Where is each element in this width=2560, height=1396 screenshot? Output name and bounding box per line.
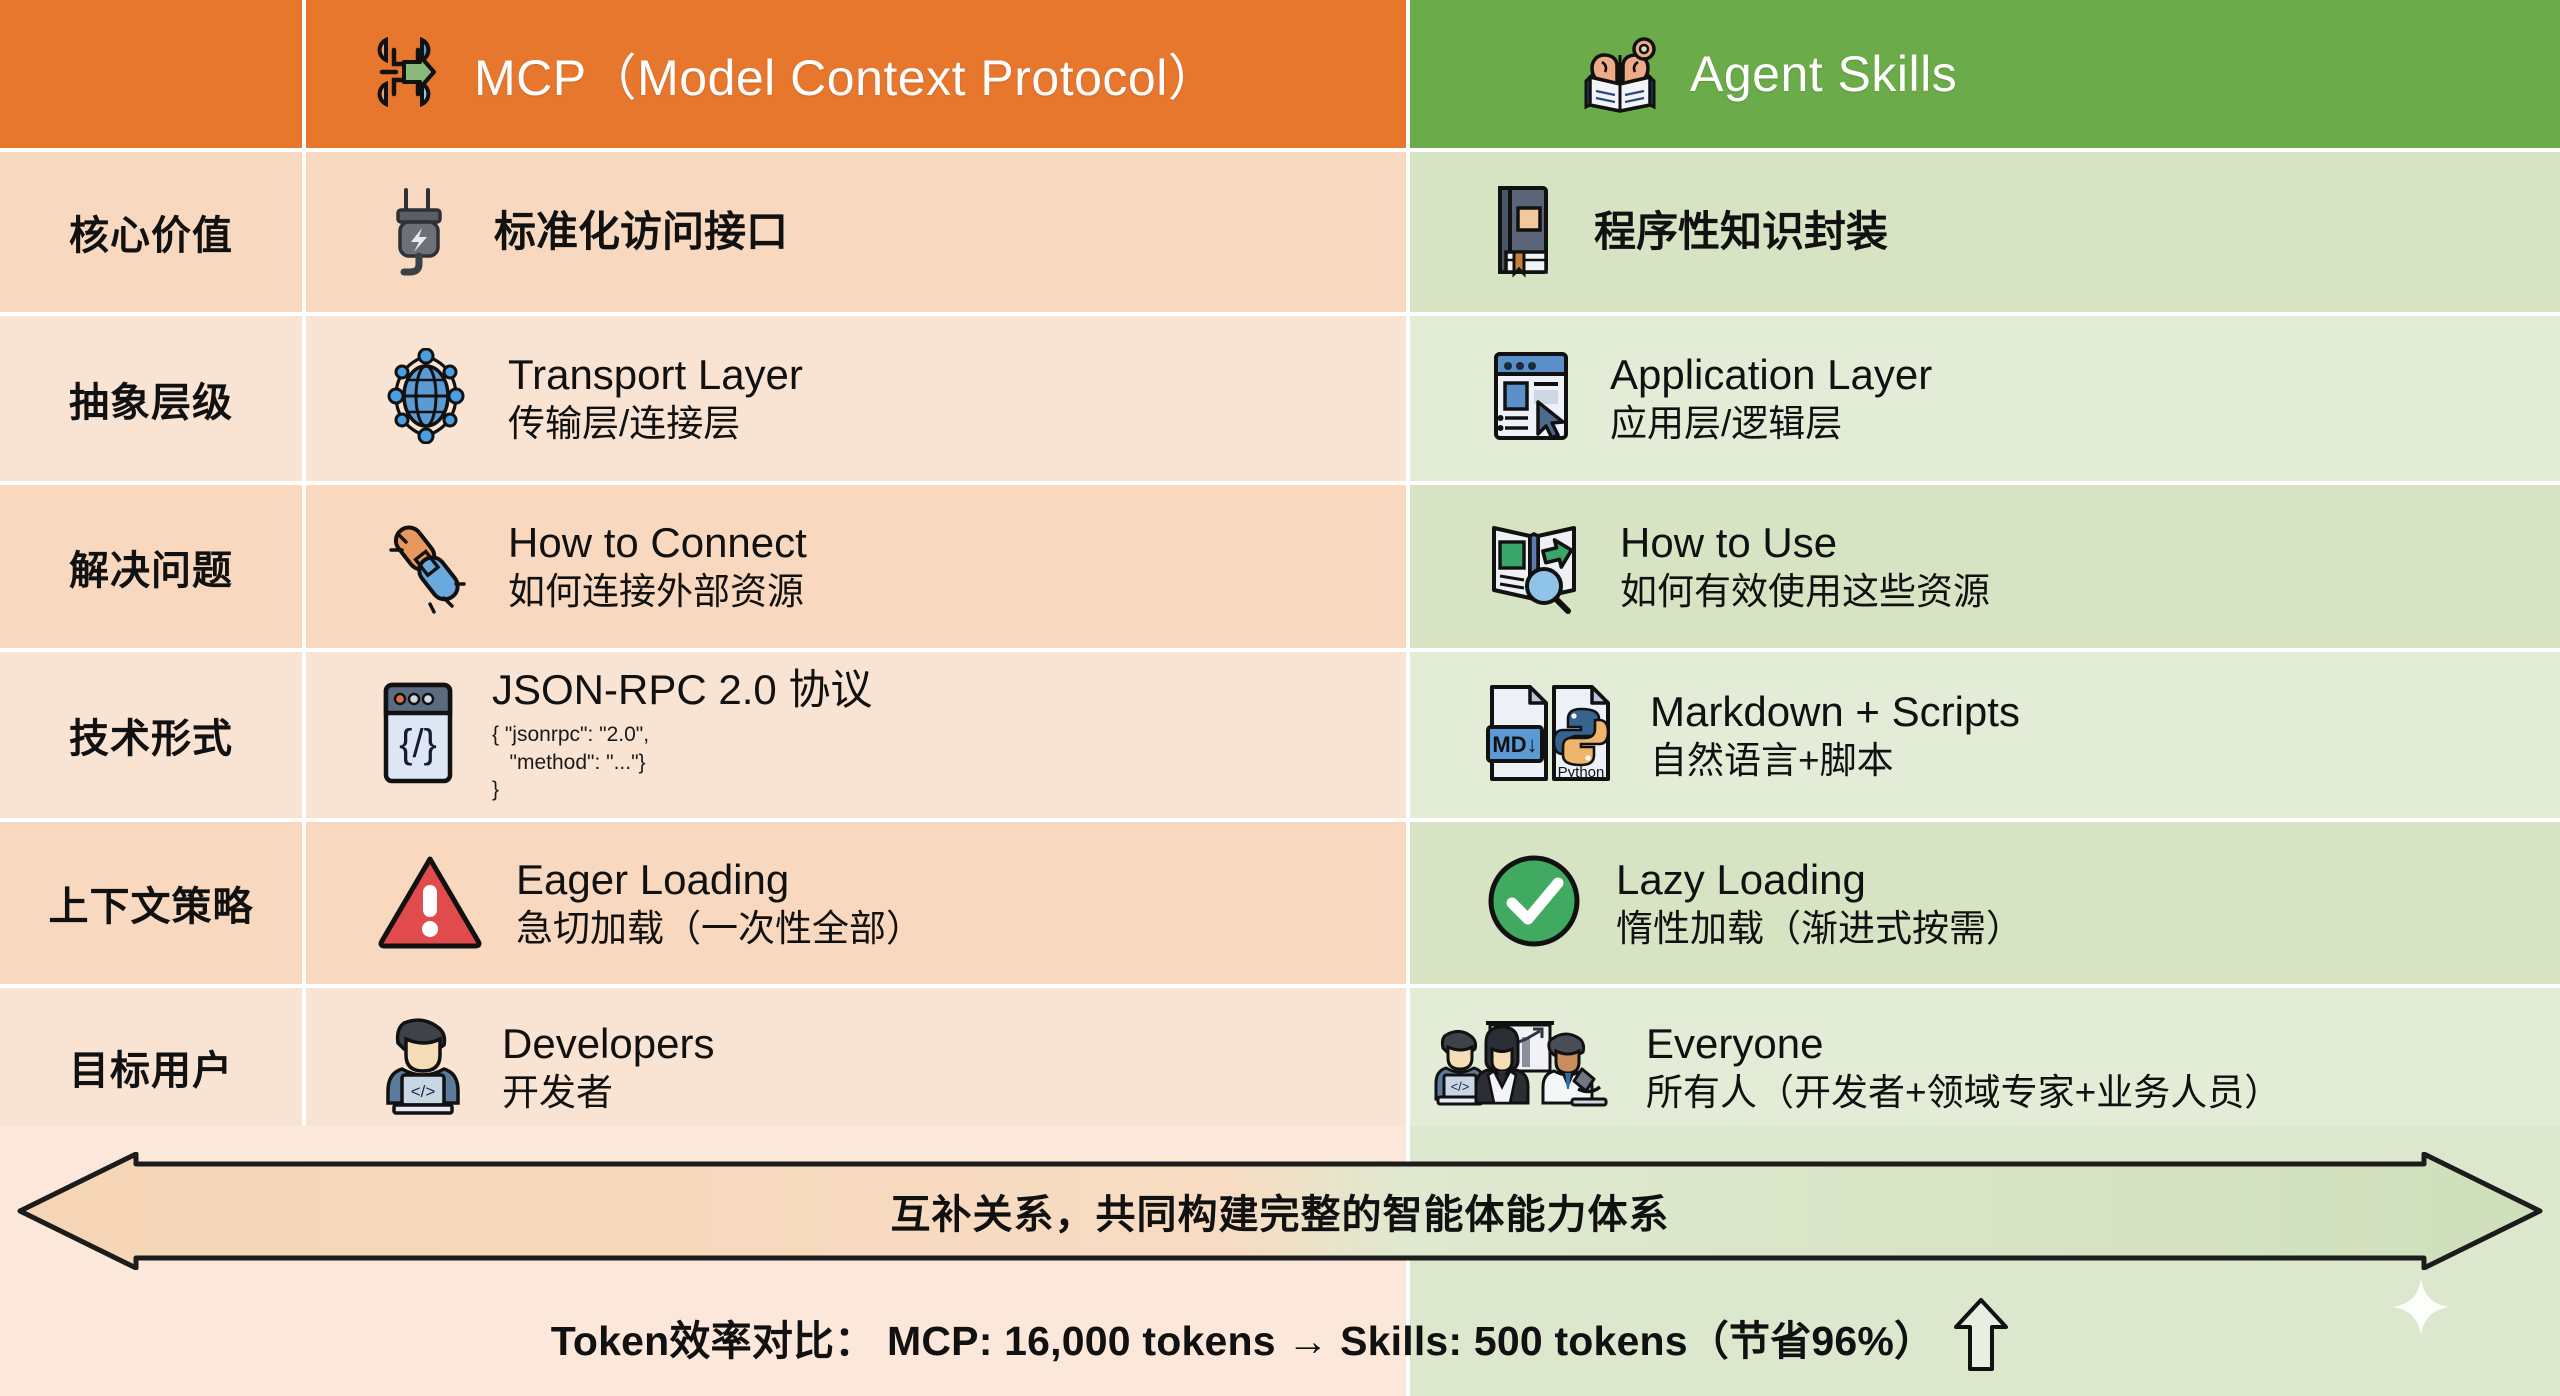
cell-mcp-technical-form: {/} JSON-RPC 2.0 协议 { "jsonrpc": "2.0", … [306, 652, 1406, 818]
warning-triangle-icon [378, 853, 482, 954]
mcp-abstraction-main: Transport Layer [508, 351, 803, 398]
row-label-text: 抽象层级 [69, 370, 233, 428]
cell-skills-core-value: 程序性知识封装 [1410, 152, 2560, 312]
row-label-text: 目标用户 [69, 1038, 233, 1096]
skills-technical-sub: 自然语言+脚本 [1650, 739, 2020, 783]
double-arrow-bar: 互补关系，共同构建完整的智能体能力体系 [16, 1152, 2544, 1270]
cell-mcp-core-value: 标准化访问接口 [306, 152, 1406, 312]
skills-abstraction-main: Application Layer [1610, 351, 1932, 398]
cell-mcp-problem-solved: How to Connect 如何连接外部资源 [306, 485, 1406, 648]
skills-title: Agent Skills [1690, 45, 1957, 103]
skills-context-sub: 惰性加载（渐进式按需） [1616, 907, 2023, 951]
green-check-circle-icon [1486, 853, 1582, 954]
token-efficiency-line: Token效率对比： MCP: 16,000 tokens → Skills: … [0, 1294, 2560, 1380]
skills-abstraction-sub: 应用层/逻辑层 [1610, 402, 1932, 446]
row-label-text: 核心价值 [69, 203, 233, 261]
skills-technical-main: Markdown + Scripts [1650, 688, 2020, 735]
mcp-title: MCP（Model Context Protocol） [474, 38, 1218, 110]
row-label-target-users: 目标用户 [0, 988, 302, 1146]
svg-text:Python: Python [1558, 764, 1605, 781]
mcp-core-value-main: 标准化访问接口 [494, 208, 788, 255]
token-efficiency-text: Token效率对比： MCP: 16,000 tokens → Skills: … [551, 1307, 1936, 1367]
cell-skills-abstraction-level: Application Layer 应用层/逻辑层 [1410, 316, 2560, 481]
mcp-context-sub: 急切加载（一次性全部） [516, 907, 923, 951]
markdown-python-files-icon: MD↓ Python [1486, 681, 1616, 790]
mcp-technical-main: JSON-RPC 2.0 协议 [492, 666, 872, 713]
app-window-cursor-icon [1486, 348, 1576, 449]
svg-text:</>: </> [411, 1082, 436, 1101]
header-mcp-cell: MCP（Model Context Protocol） [306, 0, 1406, 148]
skills-context-main: Lazy Loading [1616, 856, 2023, 903]
header-skills-cell: Agent Skills [1410, 0, 2560, 148]
cell-mcp-abstraction-level: Transport Layer 传输层/连接层 [306, 316, 1406, 481]
skills-core-value-main: 程序性知识封装 [1594, 208, 1888, 255]
skills-target-sub: 所有人（开发者+领域专家+业务人员） [1646, 1071, 2281, 1115]
cell-mcp-target-users: </> Developers 开发者 [306, 988, 1406, 1146]
mcp-technical-code: { "jsonrpc": "2.0", "method": "..."} } [492, 721, 872, 804]
code-window-icon: {/} [378, 681, 458, 790]
three-people-icon: </> [1432, 1013, 1632, 1122]
skills-problem-main: How to Use [1620, 519, 1990, 566]
mcp-problem-sub: 如何连接外部资源 [508, 570, 807, 614]
row-label-text: 解决问题 [69, 538, 233, 596]
skills-problem-sub: 如何有效使用这些资源 [1620, 570, 1990, 614]
svg-text:MD↓: MD↓ [1492, 732, 1537, 757]
cell-mcp-context-strategy: Eager Loading 急切加载（一次性全部） [306, 822, 1406, 984]
arrow-label: 互补关系，共同构建完整的智能体能力体系 [891, 1182, 1670, 1240]
brain-book-icon [1578, 29, 1664, 120]
row-label-core-value: 核心价值 [0, 152, 302, 312]
row-label-technical-form: 技术形式 [0, 652, 302, 818]
bottom-banner: 互补关系，共同构建完整的智能体能力体系 Token效率对比： MCP: 16,0… [0, 1126, 2560, 1396]
header-blank-cell [0, 0, 302, 148]
globe-network-icon [378, 348, 474, 449]
row-label-text: 上下文策略 [49, 874, 254, 932]
mcp-target-main: Developers [502, 1020, 714, 1067]
row-label-text: 技术形式 [69, 706, 233, 764]
sparkle-icon [2390, 1276, 2452, 1343]
closed-book-icon [1486, 182, 1560, 283]
mcp-problem-main: How to Connect [508, 519, 807, 566]
cell-skills-problem-solved: How to Use 如何有效使用这些资源 [1410, 485, 2560, 648]
row-label-context-strategy: 上下文策略 [0, 822, 302, 984]
svg-text:</>: </> [1451, 1079, 1470, 1094]
row-label-abstraction-level: 抽象层级 [0, 316, 302, 481]
cell-skills-target-users: </> [1410, 988, 2560, 1146]
up-arrow-icon [1953, 1297, 2009, 1378]
comparison-grid: MCP（Model Context Protocol） [0, 0, 2560, 1122]
skills-target-main: Everyone [1646, 1020, 2281, 1067]
mcp-nodes-icon [364, 30, 448, 119]
svg-text:{/}: {/} [399, 722, 437, 766]
comparison-infographic: MCP（Model Context Protocol） [0, 0, 2560, 1396]
mcp-abstraction-sub: 传输层/连接层 [508, 402, 803, 446]
cell-skills-technical-form: MD↓ Python Markdown + Scripts 自然语言+脚本 [1410, 652, 2560, 818]
power-plug-icon [378, 184, 460, 281]
open-book-magnifier-icon [1486, 514, 1586, 619]
mcp-target-sub: 开发者 [502, 1071, 714, 1115]
mcp-context-main: Eager Loading [516, 856, 923, 903]
developer-avatar-icon: </> [378, 1013, 468, 1122]
row-label-problem-solved: 解决问题 [0, 485, 302, 648]
cell-skills-context-strategy: Lazy Loading 惰性加载（渐进式按需） [1410, 822, 2560, 984]
chain-link-icon [378, 514, 474, 619]
